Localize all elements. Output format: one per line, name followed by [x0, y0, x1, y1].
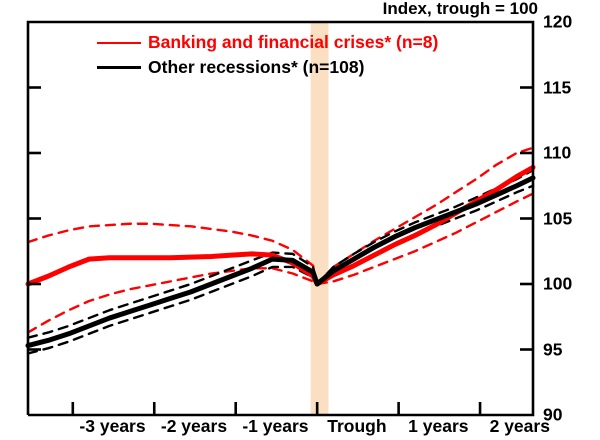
x-axis-tick-label: Trough — [327, 416, 386, 437]
x-axis-tick-label: -2 years — [161, 416, 227, 437]
legend-label-crises: Banking and financial crises* (n=8) — [148, 34, 438, 52]
y-axis-tick-label: 120 — [543, 12, 572, 33]
y-axis-tick-label: 95 — [543, 339, 562, 360]
x-axis-tick-label: -3 years — [79, 416, 145, 437]
legend-line-swatch-red-icon — [97, 42, 141, 44]
series-line-banking-and-financial-crises-upper-band — [28, 148, 533, 284]
trough-shaded-band — [311, 22, 329, 415]
x-axis-tick-label: 1 years — [408, 416, 468, 437]
legend-label-other: Other recessions* (n=108) — [148, 59, 364, 77]
y-axis-labels: 1201151101051009590 — [543, 0, 600, 440]
series-line-banking-and-financial-crises-n8 — [28, 167, 533, 284]
x-axis-labels: -3 years-2 years-1 yearsTrough1 years2 y… — [0, 416, 600, 440]
legend-item-other[interactable]: Other recessions* (n=108) — [97, 56, 438, 79]
series-line-other-recessions-n108 — [28, 178, 533, 346]
x-axis-tick-label: 2 years — [490, 416, 550, 437]
legend-item-crises[interactable]: Banking and financial crises* (n=8) — [97, 31, 438, 54]
y-axis-tick-label: 110 — [543, 143, 571, 164]
y-axis-tick-label: 100 — [543, 274, 572, 295]
x-axis-tick-label: -1 years — [242, 416, 308, 437]
chart-container: Index, trough = 100 Banking and financia… — [0, 0, 600, 440]
legend-line-swatch-black-icon — [97, 66, 141, 69]
chart-legend: Banking and financial crises* (n=8) Othe… — [97, 31, 438, 79]
series-line-other-recessions-upper-band — [28, 170, 533, 338]
y-axis-tick-label: 105 — [543, 208, 572, 229]
y-axis-tick-label: 115 — [543, 77, 571, 98]
